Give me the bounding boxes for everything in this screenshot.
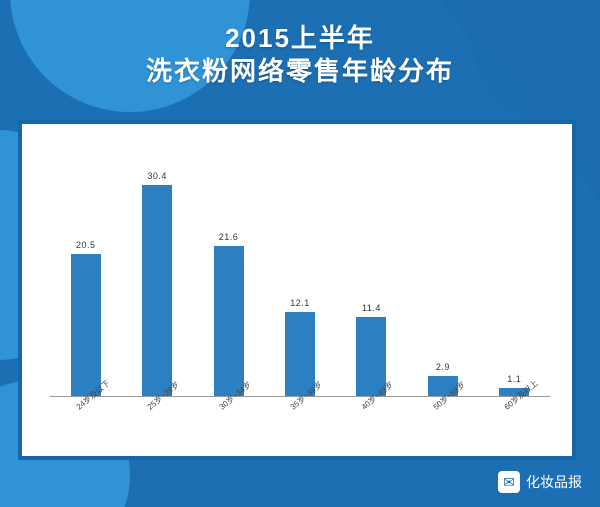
page-title: 2015上半年 洗衣粉网络零售年龄分布 [0,22,600,88]
bar-value-label: 20.5 [76,240,96,250]
bar-rect [71,254,101,396]
footer-brand-label: 化妆品报 [526,472,582,492]
chart-card: 20.530.421.612.111.42.91.1 24岁及以下25岁~29岁… [18,120,576,460]
title-line-1: 2015上半年 [0,22,600,54]
bar-rect [142,185,172,396]
bar-column: 30.4 [142,171,172,396]
bar-value-label: 2.9 [436,362,450,372]
title-line-2: 洗衣粉网络零售年龄分布 [0,54,600,88]
bar-column: 21.6 [214,232,244,396]
bar-chart-plot: 20.530.421.612.111.42.91.1 [50,146,550,396]
bar-value-label: 11.4 [362,303,381,313]
bar-column: 12.1 [285,298,315,396]
wechat-icon: ✉ [498,471,520,493]
bar-value-label: 21.6 [219,232,239,242]
bar-value-label: 30.4 [147,171,167,181]
footer-brand: ✉ 化妆品报 [498,471,582,493]
bar-value-label: 1.1 [507,374,521,384]
bar-value-label: 12.1 [290,298,310,308]
bar-column: 20.5 [71,240,101,396]
bar-column: 11.4 [356,303,386,396]
bar-rect [214,246,244,396]
